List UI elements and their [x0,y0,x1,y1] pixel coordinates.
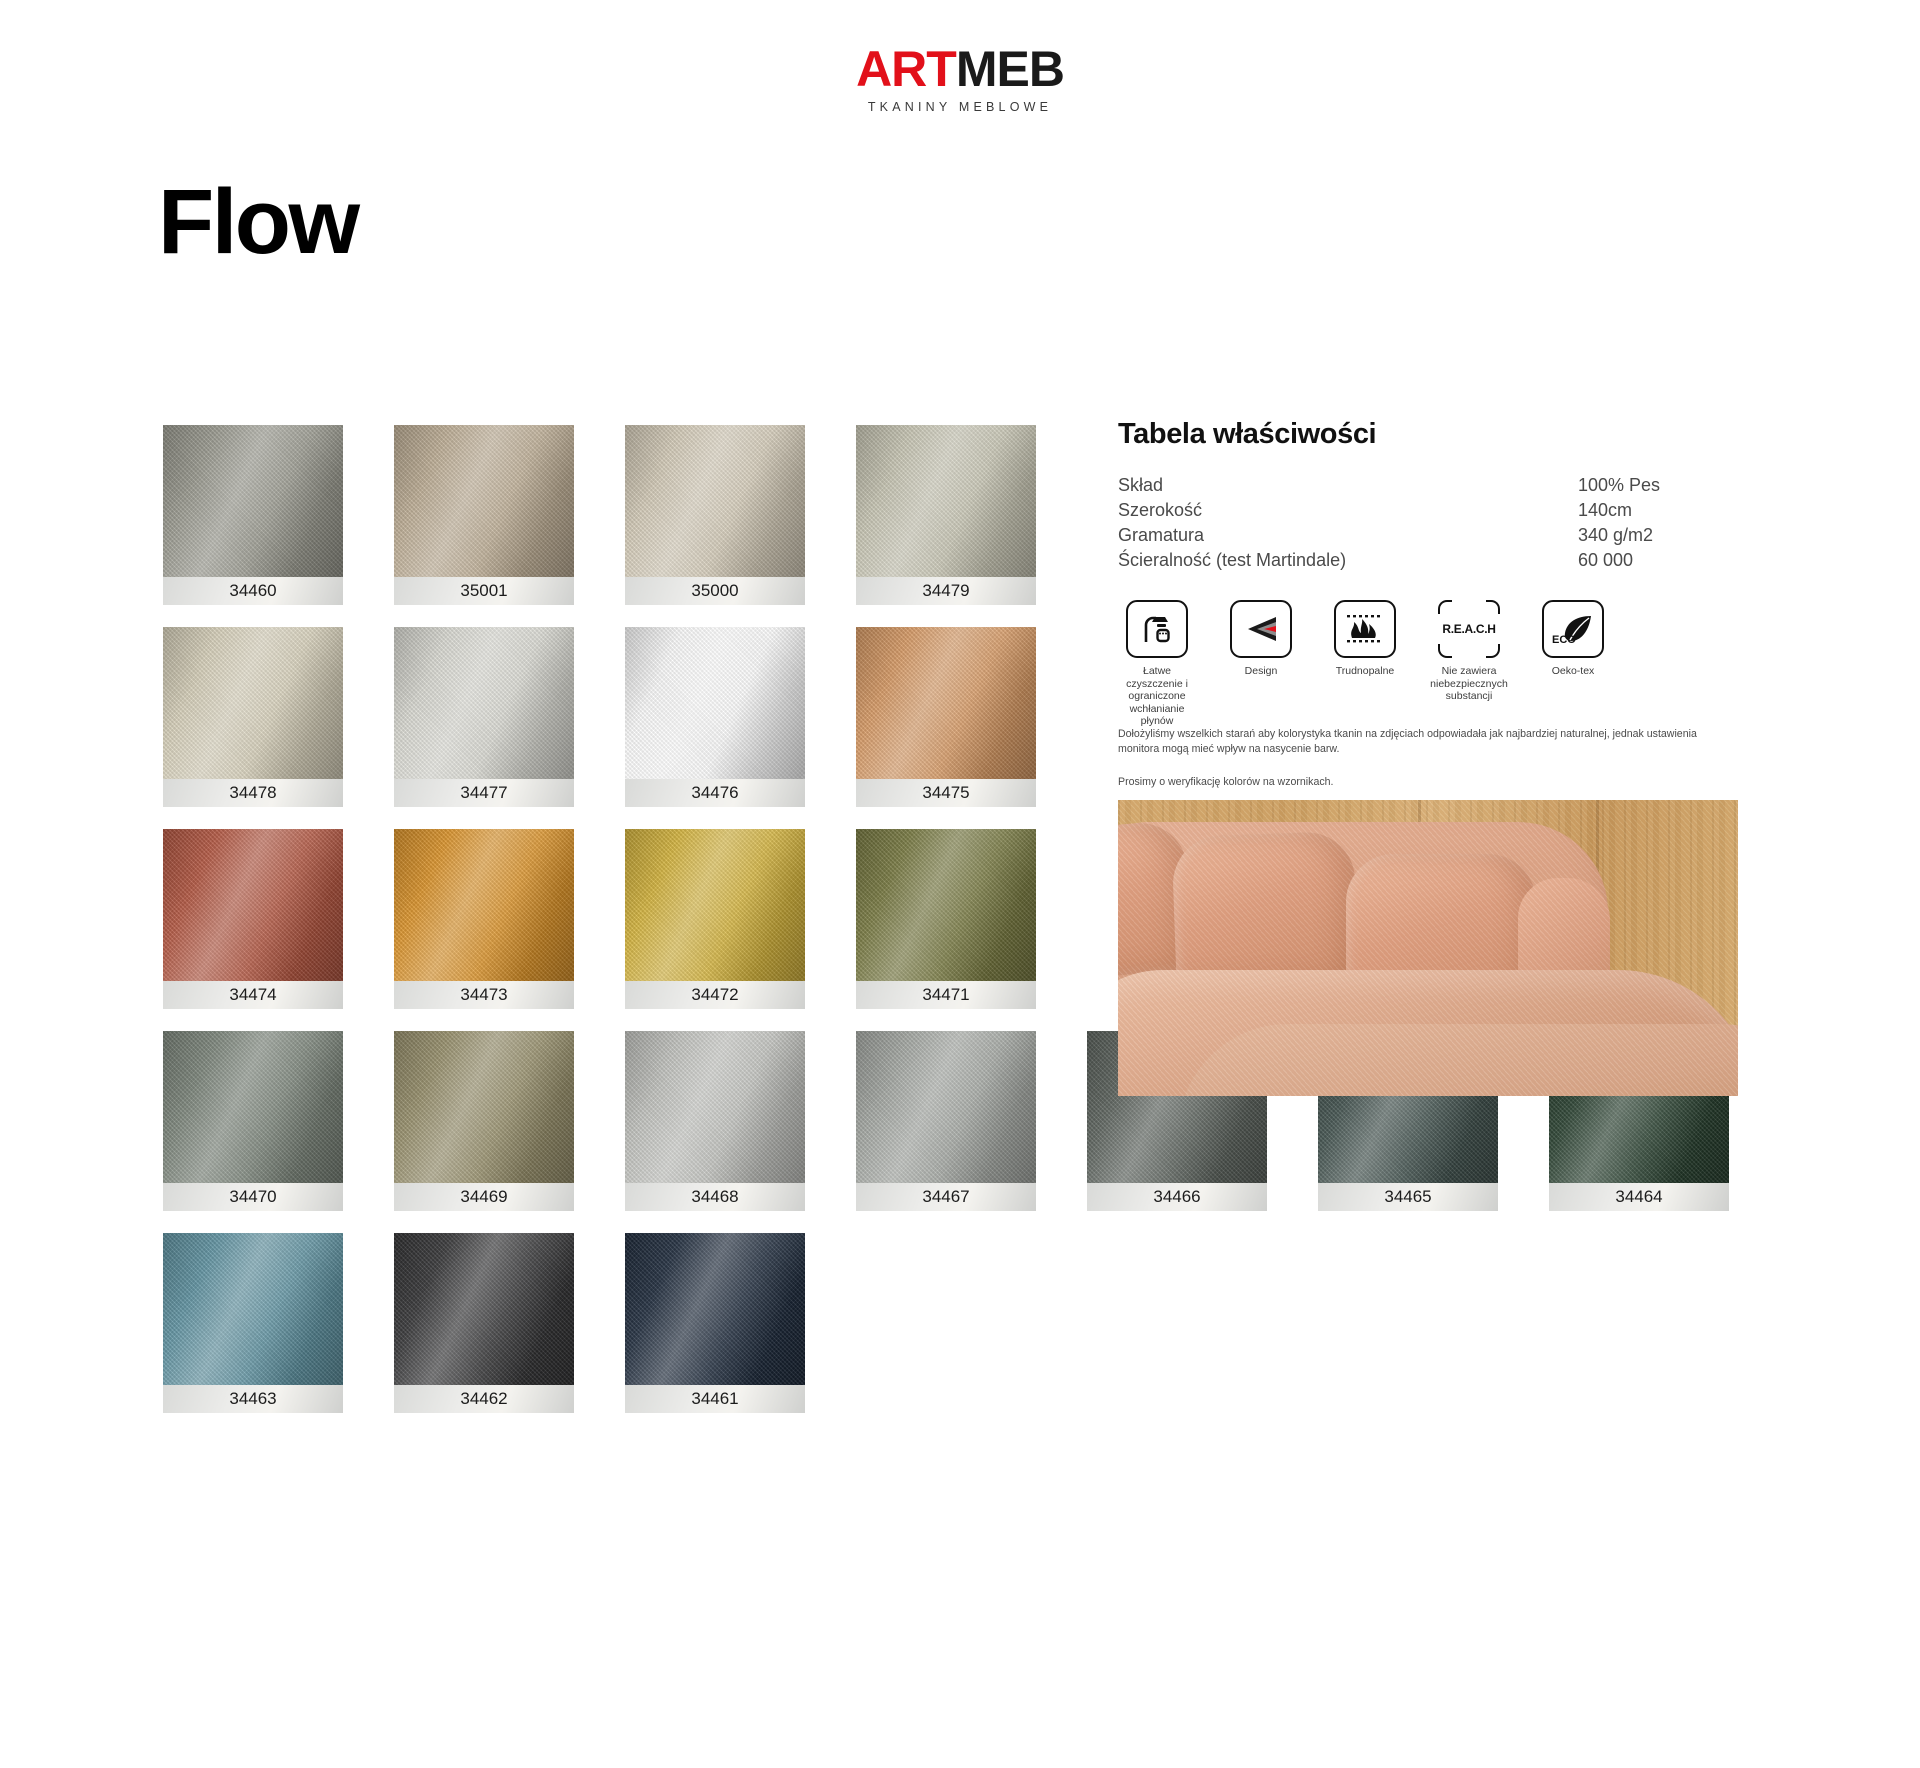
property-value: 140cm [1578,498,1728,523]
fabric-fold-shading [394,1031,574,1183]
swatch-code-label: 34475 [856,779,1036,807]
swatch-code-label: 34461 [625,1385,805,1413]
property-value: 100% Pes [1578,473,1728,498]
swatch-code-label: 34464 [1549,1183,1729,1211]
certification-caption: Trudnopalne [1326,665,1404,678]
swatch-code-text: 34468 [691,1187,738,1206]
property-row: Szerokość140cm [1118,498,1728,523]
swatch-code-text: 35000 [691,581,738,600]
property-key: Szerokość [1118,498,1578,523]
sofa-photo [1118,800,1738,1096]
property-row: Gramatura340 g/m2 [1118,523,1728,548]
certification-item: Design [1222,600,1300,728]
swatch-code-label: 34476 [625,779,805,807]
swatch-code-text: 34473 [460,985,507,1004]
sofa-seat-front [1178,1024,1738,1096]
fabric-swatch[interactable]: 34470 [163,1031,343,1211]
swatch-code-text: 34477 [460,783,507,802]
fabric-swatch-image [394,1233,574,1385]
fabric-swatch[interactable]: 34469 [394,1031,574,1211]
swatch-code-text: 34471 [922,985,969,1004]
fabric-fold-shading [163,1031,343,1183]
fabric-swatch[interactable]: 34468 [625,1031,805,1211]
fabric-swatch[interactable]: 34462 [394,1233,574,1413]
fabric-swatch[interactable]: 34477 [394,627,574,807]
reach-label: R.E.A.C.H [1442,622,1495,636]
properties-panel: Tabela właściwości Skład100% PesSzerokoś… [1118,418,1728,573]
property-value: 60 000 [1578,548,1728,573]
fabric-swatch-image [394,829,574,981]
fabric-fold-shading [163,627,343,779]
fabric-fold-shading [625,829,805,981]
swatch-code-label: 34468 [625,1183,805,1211]
flame-retardant-icon [1334,600,1396,658]
fabric-swatch[interactable]: 34463 [163,1233,343,1413]
easy-clean-icon [1126,600,1188,658]
properties-heading: Tabela właściwości [1118,418,1728,451]
fabric-swatch-image [163,627,343,779]
fabric-fold-shading [625,1233,805,1385]
fabric-swatch[interactable]: 34475 [856,627,1036,807]
fabric-fold-shading [856,425,1036,577]
disclaimer-paragraph-1: Dołożyliśmy wszelkich starań aby kolorys… [1118,727,1738,757]
logo-text-art: ART [856,44,956,94]
fabric-swatch-image [625,425,805,577]
fabric-fold-shading [856,829,1036,981]
sofa-cushion [1171,831,1358,985]
fabric-swatch[interactable]: 34474 [163,829,343,1009]
swatch-code-text: 34465 [1384,1187,1431,1206]
certification-caption: Łatwe czyszczenie i ograniczone wchłania… [1118,665,1196,728]
fabric-swatch[interactable]: 35000 [625,425,805,605]
fabric-swatch[interactable]: 34461 [625,1233,805,1413]
fabric-swatch[interactable]: 34467 [856,1031,1036,1211]
corner-bracket [1438,644,1452,658]
property-key: Skład [1118,473,1578,498]
swatch-code-text: 34460 [229,581,276,600]
swatch-code-text: 34466 [1153,1187,1200,1206]
fabric-swatch[interactable]: 34473 [394,829,574,1009]
certification-caption: Design [1222,665,1300,678]
properties-table: Skład100% PesSzerokość140cmGramatura340 … [1118,473,1728,573]
property-row: Ścieralność (test Martindale)60 000 [1118,548,1728,573]
fabric-fold-shading [163,1233,343,1385]
fabric-swatch[interactable]: 34460 [163,425,343,605]
fabric-swatch[interactable]: 34478 [163,627,343,807]
swatch-code-label: 34477 [394,779,574,807]
fabric-swatch-image [163,1031,343,1183]
corner-bracket [1486,600,1500,614]
fabric-swatch-image [856,627,1036,779]
swatch-code-label: 34478 [163,779,343,807]
swatch-code-label: 34463 [163,1385,343,1413]
fabric-swatch-image [163,425,343,577]
swatch-code-label: 34460 [163,577,343,605]
fabric-fold-shading [394,1233,574,1385]
swatch-code-label: 34465 [1318,1183,1498,1211]
swatch-code-text: 34479 [922,581,969,600]
property-value: 340 g/m2 [1578,523,1728,548]
swatch-code-text: 34470 [229,1187,276,1206]
fabric-fold-shading [394,829,574,981]
swatch-code-label: 35000 [625,577,805,605]
property-key: Ścieralność (test Martindale) [1118,548,1578,573]
swatch-code-text: 34472 [691,985,738,1004]
swatch-code-label: 34462 [394,1385,574,1413]
fabric-fold-shading [856,627,1036,779]
design-icon [1230,600,1292,658]
fabric-swatch[interactable]: 34476 [625,627,805,807]
fabric-fold-shading [394,627,574,779]
color-disclaimer: Dołożyliśmy wszelkich starań aby kolorys… [1118,727,1738,790]
eco-label: ECO [1552,634,1576,646]
property-key: Gramatura [1118,523,1578,548]
fabric-swatch-image [163,1233,343,1385]
fabric-fold-shading [625,627,805,779]
swatch-code-text: 34476 [691,783,738,802]
swatch-code-text: 34464 [1615,1187,1662,1206]
disclaimer-paragraph-2: Prosimy o weryfikację kolorów na wzornik… [1118,775,1738,790]
fabric-swatch-image [625,1031,805,1183]
fabric-swatch-image [856,425,1036,577]
fabric-swatch-image [163,829,343,981]
fabric-swatch[interactable]: 34472 [625,829,805,1009]
fabric-swatch-image [394,627,574,779]
certification-caption: Nie zawiera niebezpiecznych substancji [1430,665,1508,703]
corner-bracket [1486,644,1500,658]
swatch-code-text: 34461 [691,1389,738,1408]
certification-caption: Oeko-tex [1534,665,1612,678]
swatch-code-label: 34467 [856,1183,1036,1211]
swatch-code-text: 34478 [229,783,276,802]
fabric-swatch-image [394,1031,574,1183]
swatch-code-label: 34471 [856,981,1036,1009]
certification-item: R.E.A.C.HNie zawiera niebezpiecznych sub… [1430,600,1508,728]
reach-icon: R.E.A.C.H [1438,600,1500,658]
fabric-swatch-image [394,425,574,577]
swatch-code-text: 34462 [460,1389,507,1408]
swatch-code-text: 34463 [229,1389,276,1408]
oeko-tex-icon: ECO [1542,600,1604,658]
swatch-code-label: 34470 [163,1183,343,1211]
certification-item: ECOOeko-tex [1534,600,1612,728]
fabric-fold-shading [625,1031,805,1183]
certification-item: Trudnopalne [1326,600,1404,728]
fabric-fold-shading [856,1031,1036,1183]
swatch-code-text: 35001 [460,581,507,600]
swatch-code-label: 34466 [1087,1183,1267,1211]
fabric-fold-shading [394,425,574,577]
fabric-swatch-image [856,1031,1036,1183]
corner-bracket [1438,600,1452,614]
swatch-row: 344633446234461 [163,1233,1723,1413]
fabric-swatch-image [625,627,805,779]
page-title: Flow [158,176,358,268]
fabric-swatch-image [625,829,805,981]
swatch-code-label: 34474 [163,981,343,1009]
swatch-code-text: 34469 [460,1187,507,1206]
logo-text-meb: MEB [956,44,1064,94]
fabric-fold-shading [163,425,343,577]
swatch-code-label: 34469 [394,1183,574,1211]
swatch-code-label: 35001 [394,577,574,605]
certification-item: Łatwe czyszczenie i ograniczone wchłania… [1118,600,1196,728]
swatch-code-label: 34473 [394,981,574,1009]
swatch-code-label: 34479 [856,577,1036,605]
certification-icons: Łatwe czyszczenie i ograniczone wchłania… [1118,600,1738,728]
fabric-swatch-image [856,829,1036,981]
fabric-swatch[interactable]: 35001 [394,425,574,605]
swatch-code-text: 34467 [922,1187,969,1206]
fabric-swatch-image [625,1233,805,1385]
swatch-code-text: 34474 [229,985,276,1004]
swatch-code-text: 34475 [922,783,969,802]
swatch-code-label: 34472 [625,981,805,1009]
fabric-fold-shading [163,829,343,981]
fabric-fold-shading [625,425,805,577]
fabric-swatch[interactable]: 34471 [856,829,1036,1009]
fabric-swatch[interactable]: 34479 [856,425,1036,605]
brand-logo: ARTMEB TKANINY MEBLOWE [0,44,1920,114]
logo-tagline: TKANINY MEBLOWE [0,100,1920,114]
property-row: Skład100% Pes [1118,473,1728,498]
